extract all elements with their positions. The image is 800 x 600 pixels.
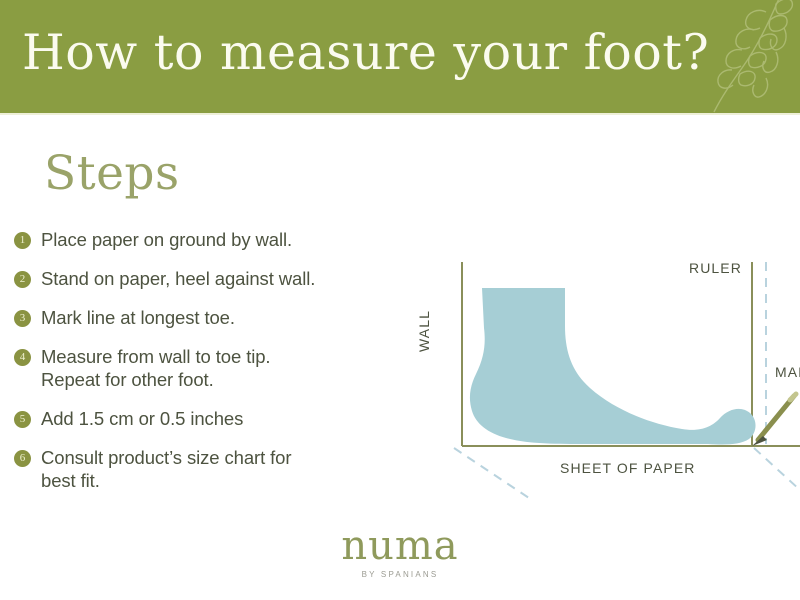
brand-logo: numa BY SPANIANS [0, 524, 800, 581]
pencil-icon [752, 394, 796, 446]
steps-list: 1 Place paper on ground by wall. 2 Stand… [14, 228, 414, 508]
foot-measurement-diagram: WALL SHEET OF PAPER RULER MAR [420, 248, 800, 503]
list-item: 6 Consult product’s size chart for best … [14, 446, 414, 492]
step-line-1: Measure from wall to toe tip. [41, 346, 270, 367]
steps-heading: Steps [44, 146, 180, 202]
step-line-1: Stand on paper, heel against wall. [41, 268, 315, 289]
step-number-badge: 6 [14, 450, 31, 467]
step-line-2: best fit. [41, 469, 414, 492]
step-number-badge: 2 [14, 271, 31, 288]
wall-label: WALL [416, 310, 432, 352]
step-text: Mark line at longest toe. [41, 306, 414, 329]
page-title: How to measure your foot? [22, 22, 709, 84]
list-item: 4 Measure from wall to toe tip. Repeat f… [14, 345, 414, 391]
step-number-badge: 4 [14, 349, 31, 366]
header-divider [0, 113, 800, 115]
step-line-1: Consult product’s size chart for [41, 447, 291, 468]
mark-label: MAR [775, 364, 800, 380]
list-item: 2 Stand on paper, heel against wall. [14, 267, 414, 290]
page-header: How to measure your foot? [0, 0, 800, 113]
step-number-badge: 3 [14, 310, 31, 327]
step-line-1: Add 1.5 cm or 0.5 inches [41, 408, 243, 429]
sheet-of-paper-label: SHEET OF PAPER [560, 460, 695, 476]
list-item: 1 Place paper on ground by wall. [14, 228, 414, 251]
ruler-label: RULER [689, 260, 742, 276]
logo-subtitle: BY SPANIANS [0, 569, 800, 581]
step-line-1: Mark line at longest toe. [41, 307, 235, 328]
step-text: Add 1.5 cm or 0.5 inches [41, 407, 414, 430]
step-text: Consult product’s size chart for best fi… [41, 446, 414, 492]
step-number-badge: 1 [14, 232, 31, 249]
list-item: 3 Mark line at longest toe. [14, 306, 414, 329]
foot-silhouette-icon [470, 288, 756, 444]
step-text: Place paper on ground by wall. [41, 228, 414, 251]
step-line-2: Repeat for other foot. [41, 368, 414, 391]
step-number-badge: 5 [14, 411, 31, 428]
step-text: Stand on paper, heel against wall. [41, 267, 414, 290]
step-text: Measure from wall to toe tip. Repeat for… [41, 345, 414, 391]
list-item: 5 Add 1.5 cm or 0.5 inches [14, 407, 414, 430]
logo-wordmark: numa [0, 524, 800, 568]
step-line-1: Place paper on ground by wall. [41, 229, 292, 250]
